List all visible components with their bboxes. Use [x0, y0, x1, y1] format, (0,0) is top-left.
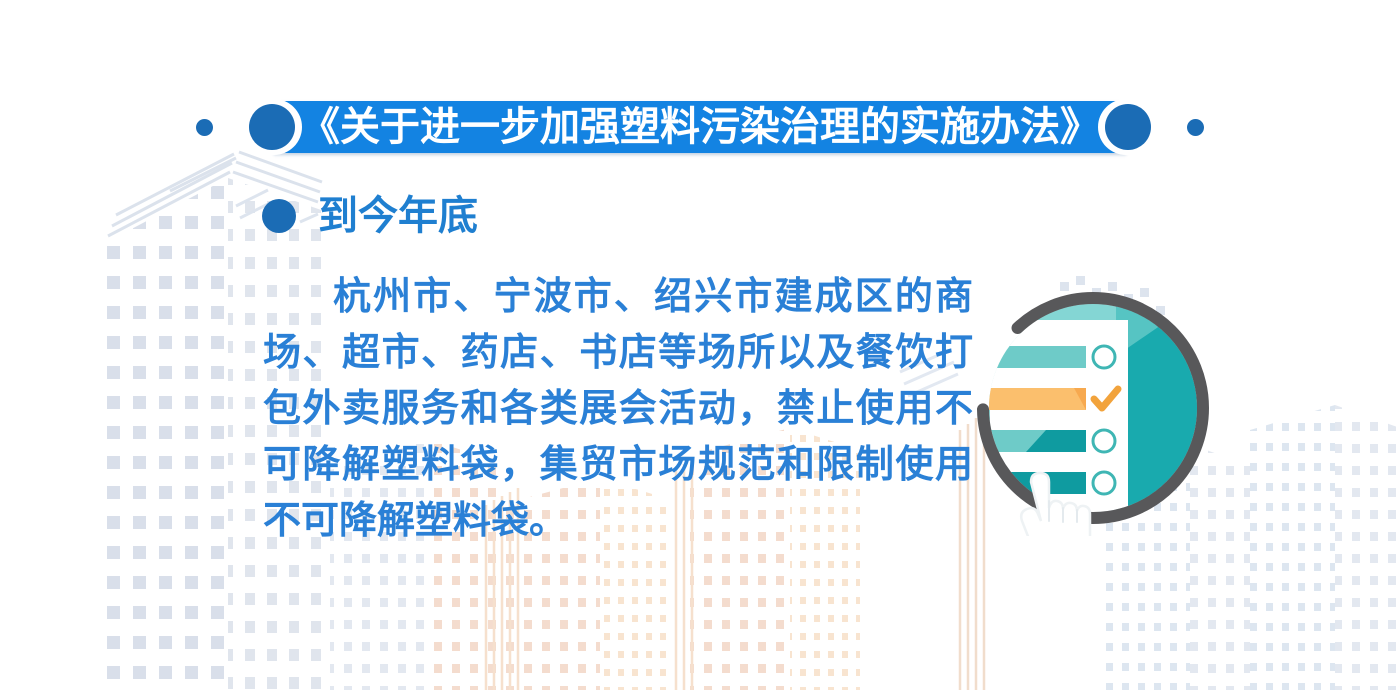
dot-icon-left-outer — [196, 119, 213, 136]
dot-icon-right-outer — [1187, 119, 1204, 136]
body-paragraph: 杭州市、宁波市、绍兴市建成区的商场、超市、药店、书店等场所以及餐饮打包外卖服务和… — [263, 268, 973, 548]
checklist-bar-1 — [968, 346, 1086, 368]
poster-canvas: 《关于进一步加强塑料污染治理的实施办法》 到今年底 杭州市、宁波市、绍兴市建成区… — [0, 0, 1400, 700]
subtitle-row: 到今年底 — [262, 196, 478, 236]
skyline-building-right-b — [1250, 405, 1400, 690]
checklist-illustration — [968, 286, 1218, 536]
bullet-circle-icon — [262, 199, 296, 233]
circle-icon-left — [249, 104, 295, 150]
circle-icon-right — [1105, 104, 1151, 150]
illustration-circle-fill — [968, 286, 1218, 536]
title-banner-row: 《关于进一步加强塑料污染治理的实施办法》 — [0, 98, 1400, 156]
title-banner: 《关于进一步加强塑料污染治理的实施办法》 — [274, 101, 1126, 153]
subtitle-text: 到今年底 — [318, 196, 478, 236]
page-title: 《关于进一步加强塑料污染治理的实施办法》 — [300, 107, 1100, 147]
